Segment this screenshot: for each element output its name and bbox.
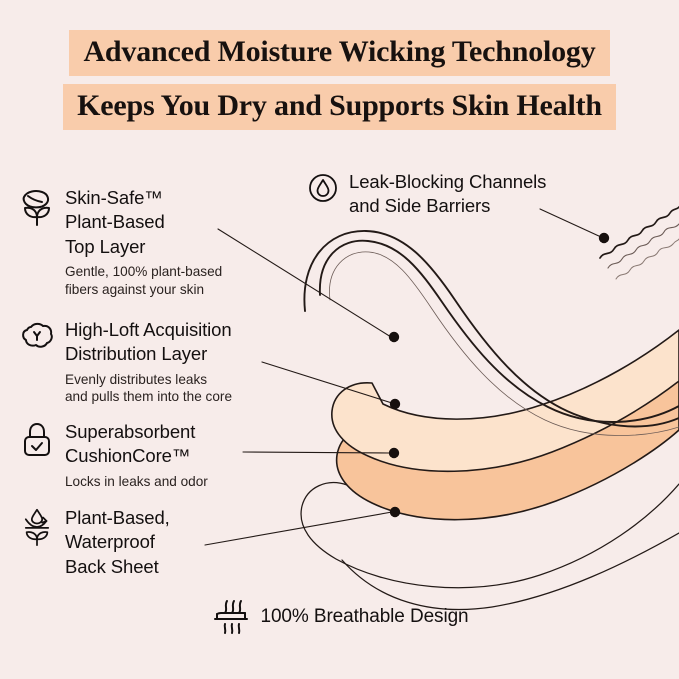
callout-back-sheet-title: Plant-Based, Waterproof Back Sheet bbox=[65, 506, 170, 579]
leader-line-adl bbox=[262, 362, 392, 403]
layer-core-shape bbox=[337, 375, 679, 520]
breathable-steam-icon bbox=[211, 598, 251, 636]
callout-top-layer-title: Skin-Safe™ Plant-Based Top Layer bbox=[65, 186, 222, 259]
callout-top-layer: Skin-Safe™ Plant-Based Top Layer Gentle,… bbox=[20, 186, 222, 299]
callout-adl: High-Loft Acquisition Distribution Layer… bbox=[20, 318, 232, 406]
page-title: Advanced Moisture Wicking Technology Kee… bbox=[0, 30, 679, 138]
title-line-2-text: Keeps You Dry and Supports Skin Health bbox=[63, 84, 616, 130]
leaf-sprout-icon bbox=[20, 188, 54, 226]
layer-top-sheet-outline-inner bbox=[304, 231, 679, 427]
callout-channels-text: Leak-Blocking Channels and Side Barriers bbox=[349, 170, 546, 219]
side-barrier-wave-1 bbox=[600, 207, 679, 258]
title-line-1: Advanced Moisture Wicking Technology bbox=[69, 30, 609, 76]
callout-channels: Leak-Blocking Channels and Side Barriers bbox=[308, 170, 546, 219]
bottom-caption: 100% Breathable Design bbox=[0, 598, 679, 636]
leader-line-channels bbox=[540, 209, 601, 237]
water-repel-sprout-icon bbox=[20, 508, 54, 546]
callout-top-layer-sub: Gentle, 100% plant-based fibers against … bbox=[65, 263, 222, 298]
callout-dot-core bbox=[389, 448, 399, 458]
title-line-2: Keeps You Dry and Supports Skin Health bbox=[63, 84, 616, 130]
callout-adl-sub: Evenly distributes leaks and pulls them … bbox=[65, 371, 232, 406]
side-barrier-wave-2 bbox=[608, 224, 679, 268]
callout-dot-top-layer bbox=[389, 332, 399, 342]
callout-adl-title: High-Loft Acquisition Distribution Layer bbox=[65, 318, 232, 367]
leader-line-core bbox=[243, 452, 390, 453]
callout-core-text: Superabsorbent CushionCore™ Locks in lea… bbox=[65, 420, 208, 490]
layer-back-sheet-shape bbox=[301, 483, 679, 588]
callout-top-layer-text: Skin-Safe™ Plant-Based Top Layer Gentle,… bbox=[65, 186, 222, 299]
callout-dot-channels bbox=[599, 233, 609, 243]
bottom-caption-text: 100% Breathable Design bbox=[261, 606, 469, 628]
side-barrier-wave-3 bbox=[616, 239, 679, 279]
callout-channels-title: Leak-Blocking Channels and Side Barriers bbox=[349, 170, 546, 219]
callout-back-sheet: Plant-Based, Waterproof Back Sheet bbox=[20, 506, 170, 579]
callout-core: Superabsorbent CushionCore™ Locks in lea… bbox=[20, 420, 208, 490]
callout-core-title: Superabsorbent CushionCore™ bbox=[65, 420, 208, 469]
leader-line-top-layer bbox=[218, 229, 391, 337]
callout-dot-back-sheet bbox=[390, 507, 400, 517]
layer-top-sheet-outline bbox=[320, 241, 679, 422]
callout-core-sub: Locks in leaks and odor bbox=[65, 473, 208, 491]
callout-adl-text: High-Loft Acquisition Distribution Layer… bbox=[65, 318, 232, 406]
droplet-circle-icon bbox=[308, 173, 338, 203]
cloud-arrow-icon bbox=[20, 320, 54, 358]
callout-dots bbox=[389, 233, 609, 517]
leader-line-back-sheet bbox=[205, 512, 392, 545]
lock-check-icon bbox=[20, 422, 54, 460]
callout-back-sheet-text: Plant-Based, Waterproof Back Sheet bbox=[65, 506, 170, 579]
callout-dot-adl bbox=[390, 399, 400, 409]
layer-top-sheet-guide bbox=[329, 252, 679, 436]
layer-adl-shape bbox=[332, 330, 679, 471]
title-line-1-text: Advanced Moisture Wicking Technology bbox=[69, 30, 609, 76]
infographic-root: Advanced Moisture Wicking Technology Kee… bbox=[0, 0, 679, 679]
